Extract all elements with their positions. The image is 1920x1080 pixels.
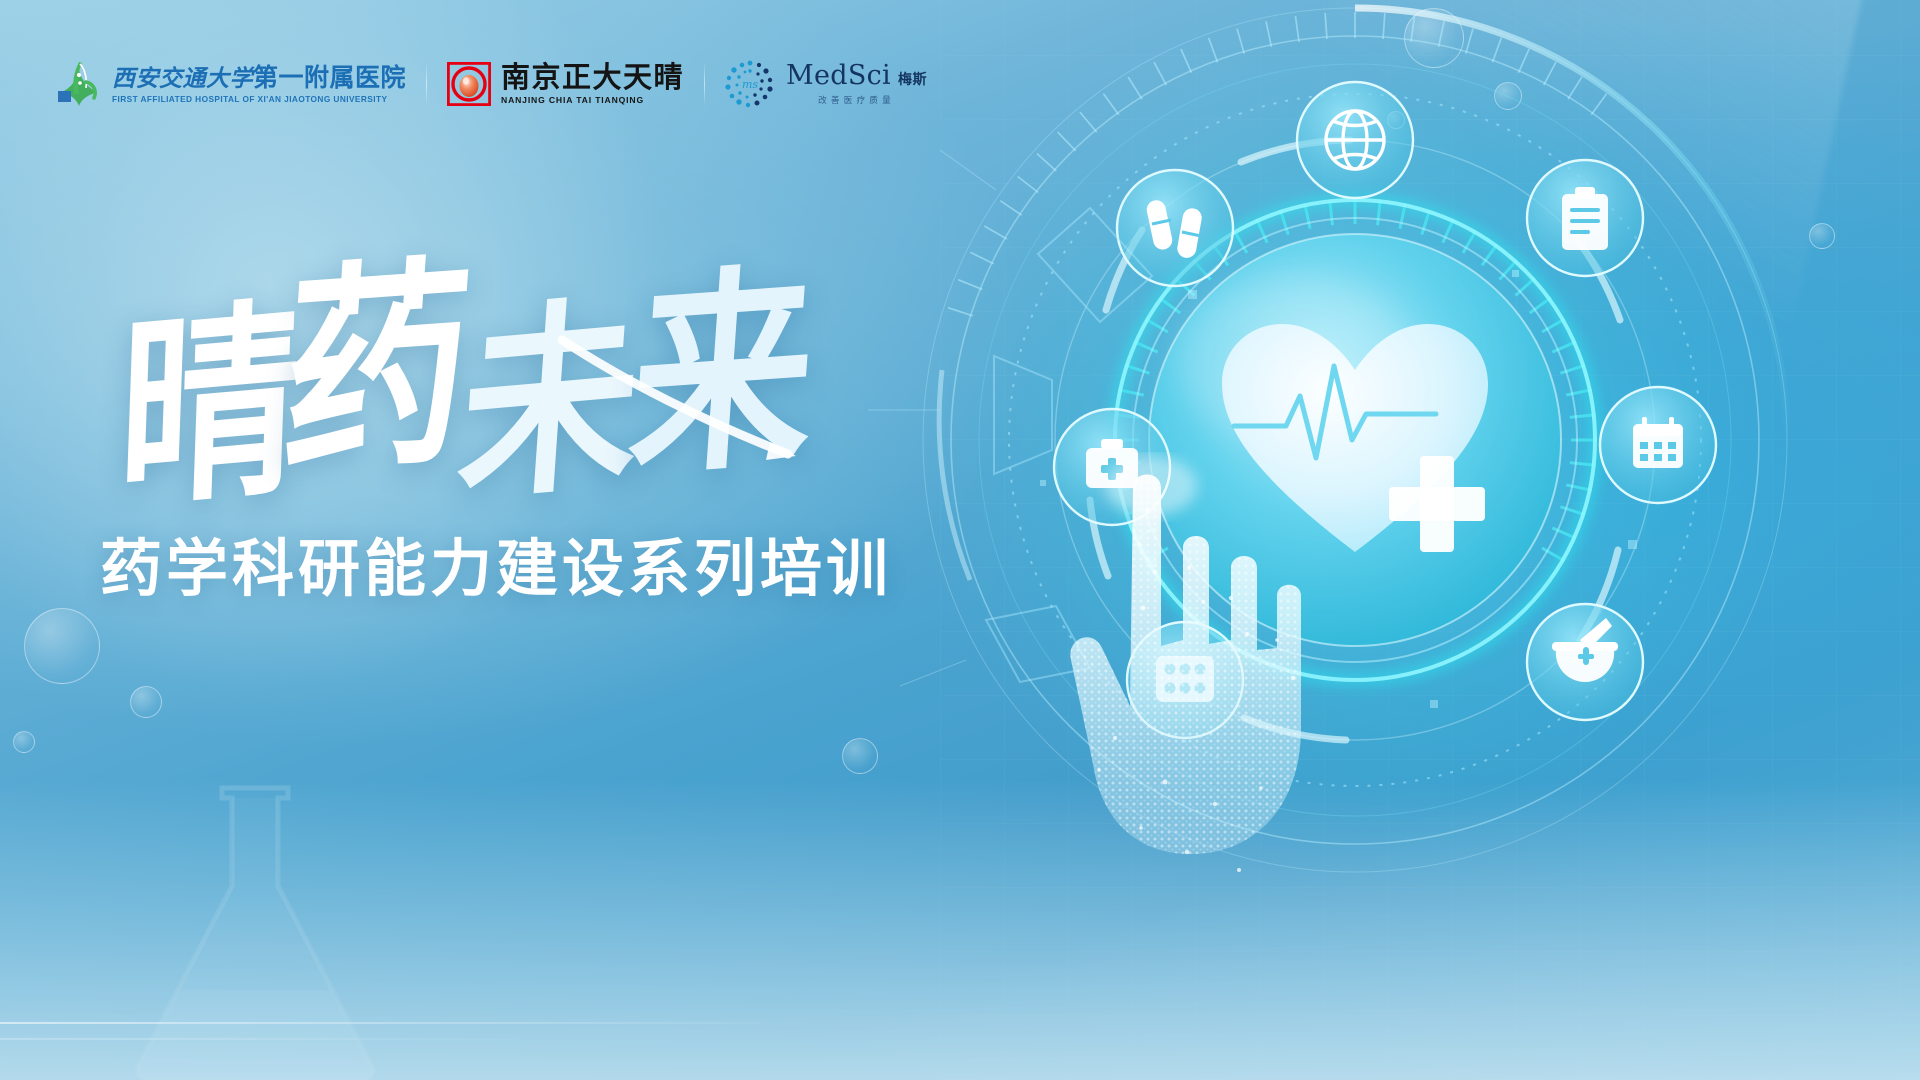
calligraphy-title: 晴 药 未 来 — [112, 252, 832, 522]
title-char-4: 来 — [625, 259, 822, 486]
tech-hud-graphic — [790, 0, 1920, 940]
node-mortar-pestle — [1527, 604, 1643, 720]
logo-divider — [704, 62, 705, 106]
title-char-1: 晴 — [115, 295, 303, 519]
svg-text:ms: ms — [742, 78, 758, 91]
clipboard-icon — [1562, 187, 1608, 250]
calendar-icon — [1633, 417, 1683, 468]
logo1-cn-line: 西安交通大学第一附属医院 — [112, 64, 406, 92]
red-square-sphere-mark — [447, 62, 491, 106]
title-char-2: 药 — [276, 252, 477, 486]
logo-xjtu-first-affiliated-hospital: 西安交通大学第一附属医院 FIRST AFFILIATED HOSPITAL O… — [56, 50, 406, 118]
page-subtitle: 药学科研能力建设系列培训 — [100, 518, 892, 608]
node-clipboard — [1527, 160, 1643, 276]
bubble — [13, 731, 35, 753]
logo1-cn-script: 西安交通大学 — [112, 65, 253, 92]
title-char-3: 未 — [453, 292, 646, 512]
banner-canvas: 西安交通大学第一附属医院 FIRST AFFILIATED HOSPITAL O… — [0, 0, 1920, 1080]
particle-hand-icon — [1055, 452, 1355, 922]
hospital-caduceus-mark — [56, 58, 102, 110]
dot-spiral-ms-mark: ms — [725, 59, 775, 109]
node-capsule-pills — [1117, 170, 1233, 286]
bubble — [130, 686, 162, 718]
logo2-en-line: NANJING CHIA TAI TIANQING — [501, 95, 684, 105]
logo1-en-line: FIRST AFFILIATED HOSPITAL OF XI'AN JIAOT… — [112, 94, 406, 104]
node-calendar — [1600, 387, 1716, 503]
logo2-cn-line: 南京正大天晴 — [501, 63, 684, 93]
logo1-cn-bold: 第一附属医院 — [253, 63, 406, 92]
node-globe — [1297, 82, 1413, 198]
lab-flask-silhouette — [110, 780, 400, 1080]
bubble — [24, 608, 100, 684]
logo-nanjing-chia-tai-tianqing: 南京正大天晴 NANJING CHIA TAI TIANQING — [447, 50, 684, 118]
logo-divider — [426, 62, 427, 106]
